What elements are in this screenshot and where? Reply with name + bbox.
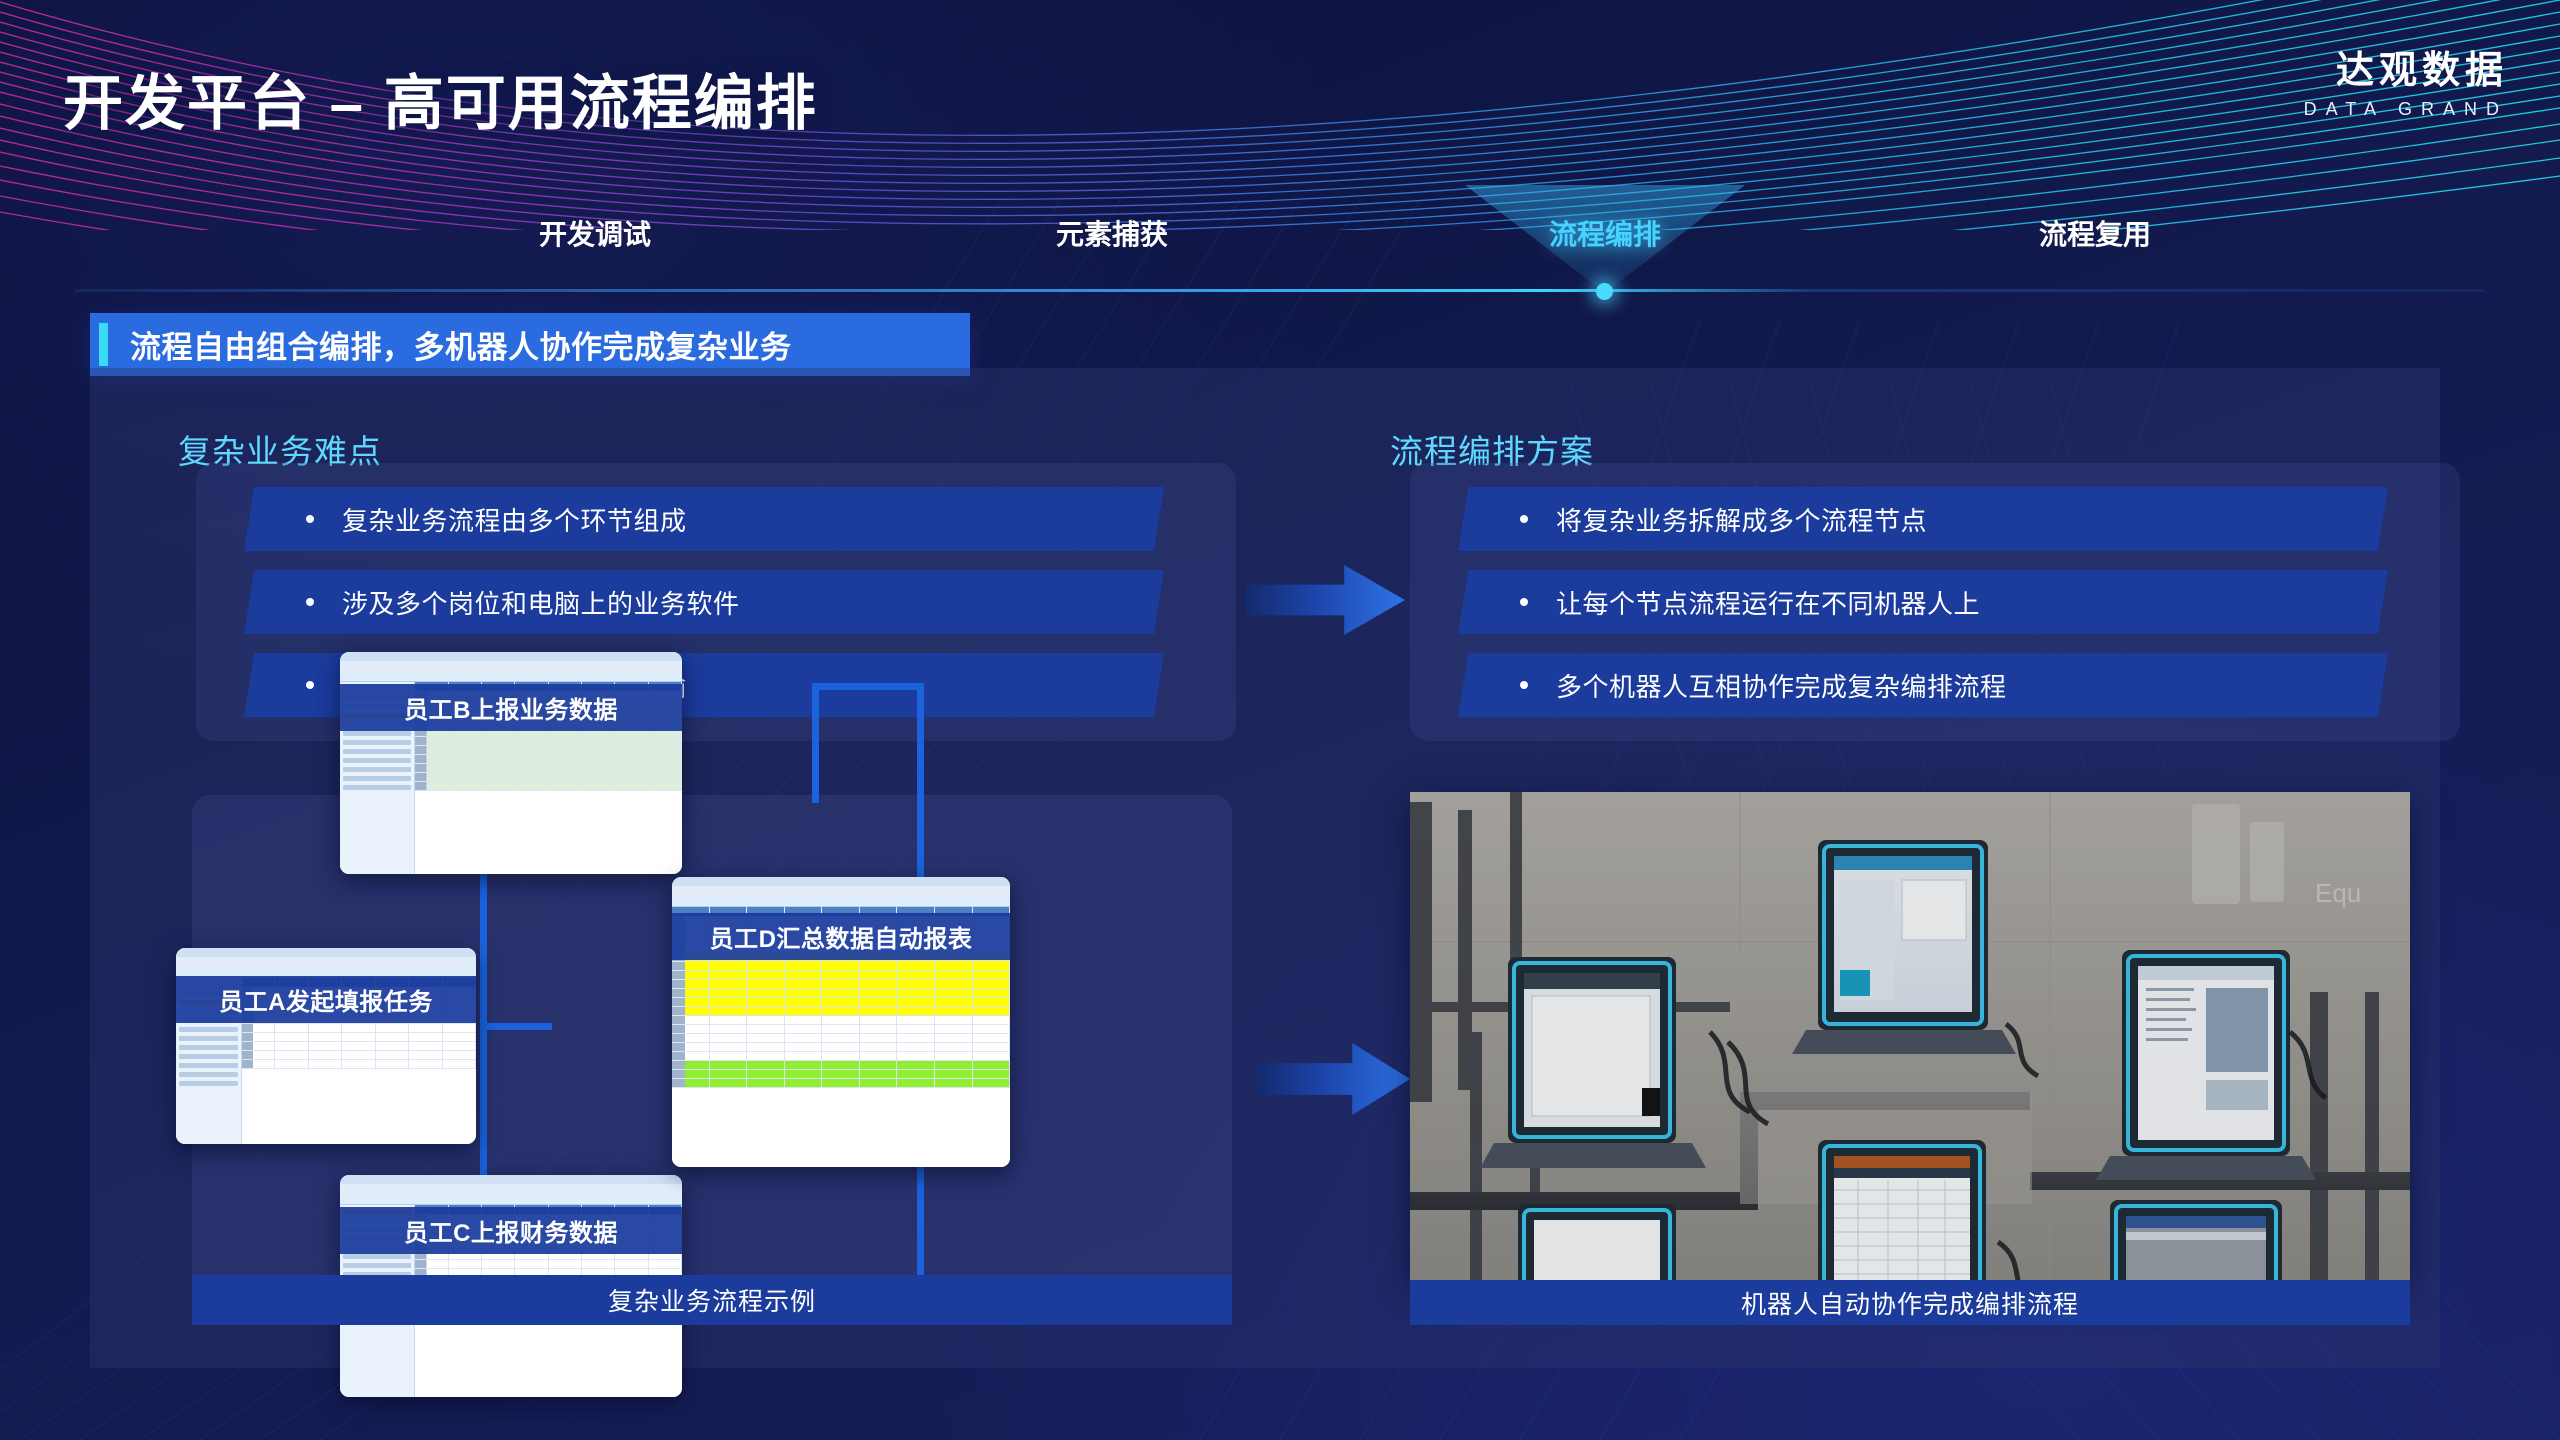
section-nav: 开发调试 元素捕获 流程编排 流程复用 (0, 185, 2560, 310)
logo-chinese-text: 达观数据 (2304, 52, 2508, 92)
nav-item-liucheng-bianpai[interactable]: 流程编排 (1465, 213, 1745, 253)
flow-node-a-label: 员工A发起填报任务 (176, 976, 476, 1023)
sidebar-row (343, 731, 411, 736)
sidebar-row (179, 1054, 238, 1059)
grid-row (242, 1042, 476, 1051)
flow-diagram-box: 员工A发起填报任务 (192, 795, 1232, 1322)
grid-row-highlight (672, 1079, 1010, 1088)
window-toolbar (340, 672, 682, 682)
sidebar-row (343, 1263, 411, 1268)
right-bullet-group: 将复杂业务拆解成多个流程节点 让每个节点流程运行在不同机器人上 多个机器人互相协… (1410, 463, 2460, 741)
sidebar-row (343, 785, 411, 790)
connector-b-out-h (812, 683, 924, 690)
window-titlebar (340, 652, 682, 661)
nav-item-kaifa-tiaoshi[interactable]: 开发调试 (455, 213, 735, 253)
nav-progress-line (75, 289, 2485, 292)
grid-row (415, 764, 682, 773)
bullet-dot-icon (306, 681, 314, 689)
sidebar-row (179, 1081, 238, 1086)
active-tab-dot-icon (1596, 283, 1613, 300)
sidebar-row (343, 749, 411, 754)
grid-row (672, 1025, 1010, 1034)
nav-item-yuansu-buhuo[interactable]: 元素捕获 (972, 213, 1252, 253)
window-toolbar (340, 1195, 682, 1205)
grid-row-highlight (672, 1061, 1010, 1070)
bullet-dot-icon (1520, 598, 1528, 606)
robot-rack-photo: Equ (1410, 792, 2410, 1280)
window-titlebar (340, 1175, 682, 1184)
sidebar-row (179, 1036, 238, 1041)
bullet-item[interactable]: 涉及多个岗位和电脑上的业务软件 (244, 570, 1164, 634)
bullet-dot-icon (1520, 681, 1528, 689)
window-tabs (176, 957, 476, 968)
sidebar-row (343, 758, 411, 763)
bullet-item[interactable]: 多个机器人互相协作完成复杂编排流程 (1458, 653, 2388, 717)
grid-row (242, 1051, 476, 1060)
logo-english-text: DATA GRAND (2304, 99, 2508, 120)
sidebar-row (343, 740, 411, 745)
nav-item-liucheng-fuyong[interactable]: 流程复用 (1955, 213, 2235, 253)
photo-caption: 机器人自动协作完成编排流程 (1410, 1280, 2410, 1325)
grid-row-highlight (672, 980, 1010, 989)
sidebar-row (179, 1027, 238, 1032)
bullet-dot-icon (1520, 515, 1528, 523)
grid-row (672, 1043, 1010, 1052)
window-titlebar (672, 877, 1010, 886)
slide-root: 开发平台 – 高可用流程编排 达观数据 DATA GRAND 开发调试 元素捕获… (0, 0, 2560, 1440)
bullet-item[interactable]: 让每个节点流程运行在不同机器人上 (1458, 570, 2388, 634)
grid-row (415, 1260, 682, 1269)
sidebar-row (179, 1072, 238, 1077)
section-banner: 流程自由组合编排，多机器人协作完成复杂业务 (90, 313, 970, 376)
flow-node-d-label: 员工D汇总数据自动报表 (672, 913, 1010, 960)
bullet-dot-icon (306, 515, 314, 523)
grid-row (672, 1034, 1010, 1043)
sidebar-row (343, 1254, 411, 1259)
flow-node-b-label: 员工B上报业务数据 (340, 684, 682, 731)
flow-node-d[interactable]: 员工D汇总数据自动报表 (672, 877, 1010, 1167)
grid-row (242, 1033, 476, 1042)
grid-row-highlight (672, 1070, 1010, 1079)
bullet-label: 将复杂业务拆解成多个流程节点 (1556, 501, 1927, 538)
window-tabs (340, 1184, 682, 1195)
window-tabs (340, 661, 682, 672)
sidebar-row (179, 1045, 238, 1050)
grid-row (242, 1024, 476, 1033)
window-toolbar (672, 897, 1010, 907)
flow-node-a[interactable]: 员工A发起填报任务 (176, 948, 476, 1144)
grid-row (242, 1060, 476, 1069)
bullet-label: 让每个节点流程运行在不同机器人上 (1556, 584, 1980, 621)
grid-row (415, 746, 682, 755)
banner-title: 流程自由组合编排，多机器人协作完成复杂业务 (130, 322, 792, 367)
bullet-item[interactable]: 复杂业务流程由多个环节组成 (244, 487, 1164, 551)
bullet-label: 复杂业务流程由多个环节组成 (342, 501, 687, 538)
bullet-item[interactable]: 将复杂业务拆解成多个流程节点 (1458, 487, 2388, 551)
bullet-label: 多个机器人互相协作完成复杂编排流程 (1556, 667, 2007, 704)
grid-row-highlight (672, 989, 1010, 998)
grid-row-highlight (672, 998, 1010, 1007)
page-title: 开发平台 – 高可用流程编排 (63, 55, 818, 142)
grid-row (415, 755, 682, 764)
grid-row (415, 782, 682, 791)
sidebar-row (343, 767, 411, 772)
grid-row (672, 1016, 1010, 1025)
window-titlebar (176, 948, 476, 957)
grid-row (415, 737, 682, 746)
flow-node-b[interactable]: 员工B上报业务数据 (340, 652, 682, 874)
sidebar-row (179, 1063, 238, 1068)
flow-node-c-label: 员工C上报财务数据 (340, 1207, 682, 1254)
grid-row-highlight (672, 1007, 1010, 1016)
window-tabs (672, 886, 1010, 897)
bullet-label: 涉及多个岗位和电脑上的业务软件 (342, 584, 740, 621)
bullet-dot-icon (306, 598, 314, 606)
flow-diagram-caption: 复杂业务流程示例 (192, 1275, 1232, 1325)
brand-logo: 达观数据 DATA GRAND (2304, 52, 2508, 120)
grid-row-highlight (672, 971, 1010, 980)
grid-row (672, 1052, 1010, 1061)
grid-row (415, 773, 682, 782)
sidebar-row (343, 776, 411, 781)
connector-b-out (812, 683, 819, 803)
banner-accent-bar (99, 323, 108, 366)
grid-row-highlight (672, 962, 1010, 971)
connector-a-stem (480, 1023, 552, 1030)
